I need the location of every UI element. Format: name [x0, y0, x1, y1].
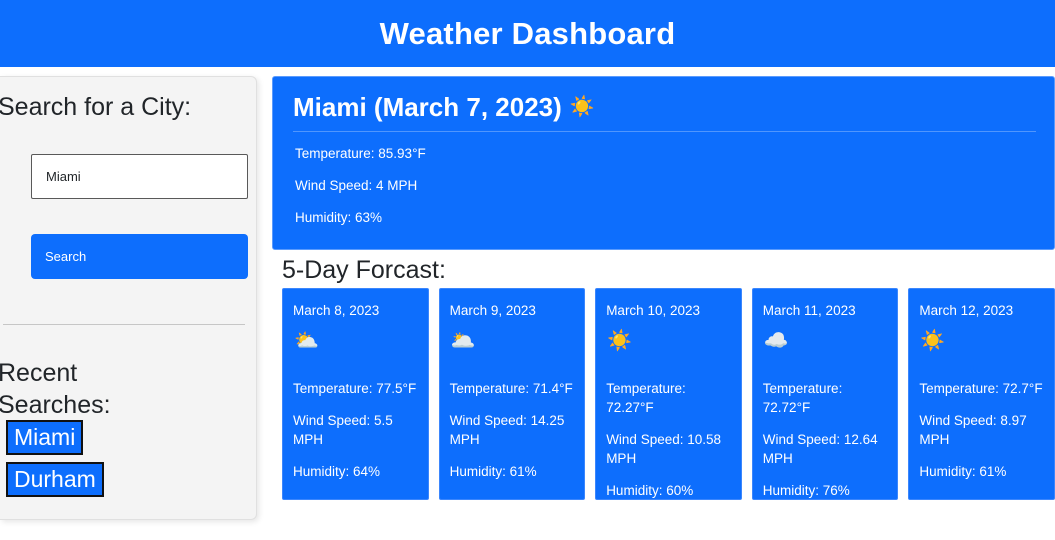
recent-searches-list: Miami Durham — [0, 420, 250, 504]
forecast-list: March 8, 2023 ⛅ Temperature: 77.5°F Wind… — [282, 288, 1055, 500]
forecast-humidity: Humidity: 76% — [763, 481, 890, 500]
forecast-temperature: Temperature: 72.27°F — [606, 379, 733, 417]
current-wind-speed: Wind Speed: 4 MPH — [295, 178, 417, 193]
forecast-temperature: Temperature: 77.5°F — [293, 379, 420, 398]
main-content: Miami (March 7, 2023)☀️ Temperature: 85.… — [272, 76, 1055, 250]
current-card-divider — [293, 131, 1036, 132]
forecast-date: March 10, 2023 — [606, 303, 700, 318]
forecast-humidity: Humidity: 61% — [450, 462, 577, 481]
search-heading: Search for a City: — [0, 93, 258, 122]
forecast-card: March 8, 2023 ⛅ Temperature: 77.5°F Wind… — [282, 288, 429, 500]
sidebar-divider — [3, 324, 245, 325]
weather-dashboard-app: Weather Dashboard Search for a City: Sea… — [0, 0, 1055, 540]
recent-searches-heading: Recent Searches: — [0, 357, 148, 421]
forecast-details: Temperature: 72.7°F Wind Speed: 8.97 MPH… — [919, 379, 1046, 494]
search-sidebar: Search for a City: Search Recent Searche… — [0, 76, 257, 520]
forecast-card: March 11, 2023 ☁️ Temperature: 72.72°F W… — [752, 288, 899, 500]
recent-search-item-durham[interactable]: Durham — [6, 462, 104, 497]
current-weather-title: Miami (March 7, 2023)☀️ — [293, 92, 595, 123]
forecast-humidity: Humidity: 61% — [919, 462, 1046, 481]
recent-search-item-miami[interactable]: Miami — [6, 420, 83, 455]
sun-behind-cloud-icon: ⛅ — [294, 331, 319, 351]
forecast-card: March 10, 2023 ☀️ Temperature: 72.27°F W… — [595, 288, 742, 500]
forecast-details: Temperature: 71.4°F Wind Speed: 14.25 MP… — [450, 379, 577, 494]
sun-icon: ☀️ — [607, 331, 632, 351]
forecast-wind-speed: Wind Speed: 14.25 MPH — [450, 411, 577, 449]
page-title: Weather Dashboard — [380, 18, 676, 49]
forecast-details: Temperature: 72.27°F Wind Speed: 10.58 M… — [606, 379, 733, 500]
forecast-wind-speed: Wind Speed: 12.64 MPH — [763, 430, 890, 468]
forecast-date: March 9, 2023 — [450, 303, 536, 318]
forecast-temperature: Temperature: 72.7°F — [919, 379, 1046, 398]
search-input[interactable] — [31, 154, 248, 199]
forecast-wind-speed: Wind Speed: 5.5 MPH — [293, 411, 420, 449]
sun-icon: ☀️ — [920, 331, 945, 351]
current-weather-city-date: Miami (March 7, 2023) — [293, 92, 562, 122]
forecast-heading: 5-Day Forcast: — [282, 256, 446, 285]
cloud-icon: ☁️ — [764, 331, 789, 351]
current-temperature: Temperature: 85.93°F — [295, 146, 426, 161]
search-button[interactable]: Search — [31, 234, 248, 279]
forecast-date: March 8, 2023 — [293, 303, 379, 318]
current-weather-card: Miami (March 7, 2023)☀️ Temperature: 85.… — [272, 76, 1055, 250]
sun-icon: ☀️ — [570, 96, 595, 118]
current-humidity: Humidity: 63% — [295, 210, 382, 225]
forecast-temperature: Temperature: 72.72°F — [763, 379, 890, 417]
forecast-date: March 11, 2023 — [763, 303, 856, 318]
forecast-details: Temperature: 77.5°F Wind Speed: 5.5 MPH … — [293, 379, 420, 494]
forecast-wind-speed: Wind Speed: 8.97 MPH — [919, 411, 1046, 449]
forecast-date: March 12, 2023 — [919, 303, 1013, 318]
forecast-details: Temperature: 72.72°F Wind Speed: 12.64 M… — [763, 379, 890, 500]
forecast-humidity: Humidity: 60% — [606, 481, 733, 500]
forecast-card: March 9, 2023 🌥️ Temperature: 71.4°F Win… — [439, 288, 586, 500]
forecast-card: March 12, 2023 ☀️ Temperature: 72.7°F Wi… — [908, 288, 1055, 500]
forecast-humidity: Humidity: 64% — [293, 462, 420, 481]
app-header: Weather Dashboard — [0, 0, 1055, 67]
forecast-temperature: Temperature: 71.4°F — [450, 379, 577, 398]
cloud-dark-icon: 🌥️ — [451, 331, 476, 351]
forecast-wind-speed: Wind Speed: 10.58 MPH — [606, 430, 733, 468]
